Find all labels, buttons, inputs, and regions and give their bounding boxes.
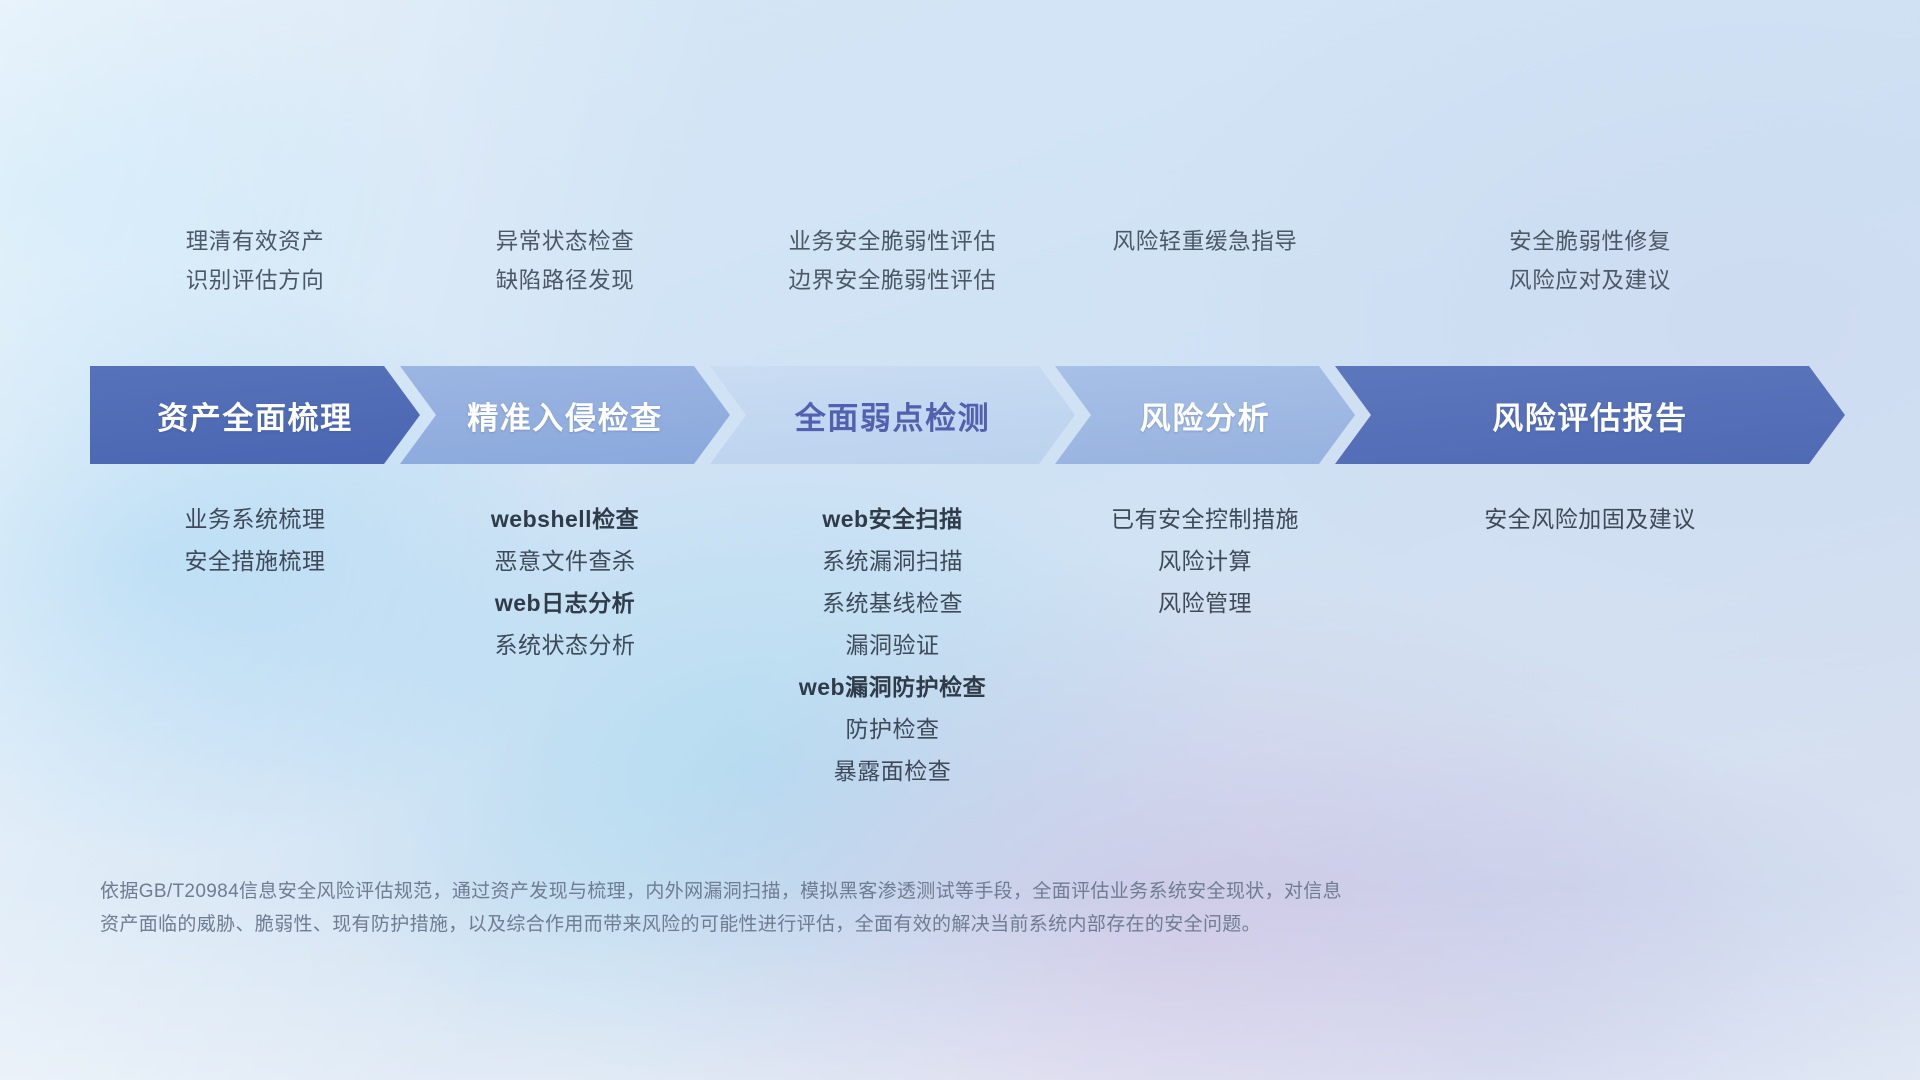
top-captions-asset-inventory: 理清有效资产识别评估方向 — [90, 228, 420, 296]
top-caption-item: 边界安全脆弱性评估 — [789, 267, 997, 296]
bottom-caption-item: 风险计算 — [1158, 547, 1252, 575]
top-caption-item: 理清有效资产 — [186, 228, 325, 257]
stage-bottom-captions-row: 业务系统梳理安全措施梳理webshell检查恶意文件查杀web日志分析系统状态分… — [0, 505, 1920, 865]
chevron-stage-weakness-detection[interactable]: 全面弱点检测 — [710, 366, 1075, 464]
footer-line-1: 依据GB/T20984信息安全风险评估规范，通过资产发现与梳理，内外网漏洞扫描，… — [100, 876, 1740, 909]
bottom-captions-risk-report: 安全风险加固及建议 — [1335, 505, 1845, 533]
bottom-caption-item: web安全扫描 — [822, 505, 962, 533]
stage-top-captions-row: 理清有效资产识别评估方向异常状态检查缺陷路径发现业务安全脆弱性评估边界安全脆弱性… — [0, 228, 1920, 338]
bottom-caption-item: 恶意文件查杀 — [495, 547, 636, 575]
top-caption-item: 风险轻重缓急指导 — [1113, 228, 1298, 257]
bottom-caption-item: web日志分析 — [495, 589, 635, 617]
top-captions-risk-report: 安全脆弱性修复风险应对及建议 — [1335, 228, 1845, 296]
top-caption-item: 缺陷路径发现 — [496, 267, 635, 296]
bottom-captions-asset-inventory: 业务系统梳理安全措施梳理 — [90, 505, 420, 575]
chevron-title-intrusion-check: 精准入侵检查 — [467, 393, 663, 438]
bottom-captions-weakness-detection: web安全扫描系统漏洞扫描系统基线检查漏洞验证web漏洞防护检查防护检查暴露面检… — [710, 505, 1075, 785]
chevron-title-asset-inventory: 资产全面梳理 — [157, 393, 353, 438]
bottom-captions-risk-analysis: 已有安全控制措施风险计算风险管理 — [1055, 505, 1355, 617]
top-captions-weakness-detection: 业务安全脆弱性评估边界安全脆弱性评估 — [710, 228, 1075, 296]
bottom-caption-item: webshell检查 — [491, 505, 639, 533]
chevron-stage-risk-analysis[interactable]: 风险分析 — [1055, 366, 1355, 464]
process-flow-diagram: 理清有效资产识别评估方向异常状态检查缺陷路径发现业务安全脆弱性评估边界安全脆弱性… — [0, 0, 1920, 1080]
bottom-caption-item: 漏洞验证 — [846, 631, 940, 659]
top-caption-item: 识别评估方向 — [186, 267, 325, 296]
footer-description: 依据GB/T20984信息安全风险评估规范，通过资产发现与梳理，内外网漏洞扫描，… — [100, 876, 1740, 941]
bottom-caption-item: 安全措施梳理 — [185, 547, 326, 575]
bottom-caption-item: 安全风险加固及建议 — [1484, 505, 1696, 533]
top-captions-intrusion-check: 异常状态检查缺陷路径发现 — [400, 228, 730, 296]
top-caption-item: 安全脆弱性修复 — [1509, 228, 1671, 257]
bottom-caption-item: 系统基线检查 — [822, 589, 963, 617]
bottom-caption-item: 暴露面检查 — [834, 757, 952, 785]
chevron-stage-asset-inventory[interactable]: 资产全面梳理 — [90, 366, 420, 464]
top-caption-item: 风险应对及建议 — [1509, 267, 1671, 296]
bottom-caption-item: 风险管理 — [1158, 589, 1252, 617]
chevron-title-risk-analysis: 风险分析 — [1140, 393, 1270, 438]
bottom-caption-item: 系统状态分析 — [495, 631, 636, 659]
footer-line-2: 资产面临的威胁、脆弱性、现有防护措施，以及综合作用而带来风险的可能性进行评估，全… — [100, 909, 1740, 942]
top-caption-item: 异常状态检查 — [496, 228, 635, 257]
top-captions-risk-analysis: 风险轻重缓急指导 — [1055, 228, 1355, 257]
chevron-title-risk-report: 风险评估报告 — [1492, 393, 1688, 438]
chevron-title-weakness-detection: 全面弱点检测 — [795, 393, 991, 438]
chevron-stage-intrusion-check[interactable]: 精准入侵检查 — [400, 366, 730, 464]
top-caption-item: 业务安全脆弱性评估 — [789, 228, 997, 257]
chevron-stage-risk-report[interactable]: 风险评估报告 — [1335, 366, 1845, 464]
bottom-captions-intrusion-check: webshell检查恶意文件查杀web日志分析系统状态分析 — [400, 505, 730, 659]
stage-chevron-band: 资产全面梳理精准入侵检查全面弱点检测风险分析风险评估报告 — [0, 366, 1920, 464]
bottom-caption-item: 业务系统梳理 — [185, 505, 326, 533]
bottom-caption-item: 防护检查 — [846, 715, 940, 743]
bottom-caption-item: 系统漏洞扫描 — [822, 547, 963, 575]
bottom-caption-item: web漏洞防护检查 — [799, 673, 986, 701]
bottom-caption-item: 已有安全控制措施 — [1111, 505, 1299, 533]
